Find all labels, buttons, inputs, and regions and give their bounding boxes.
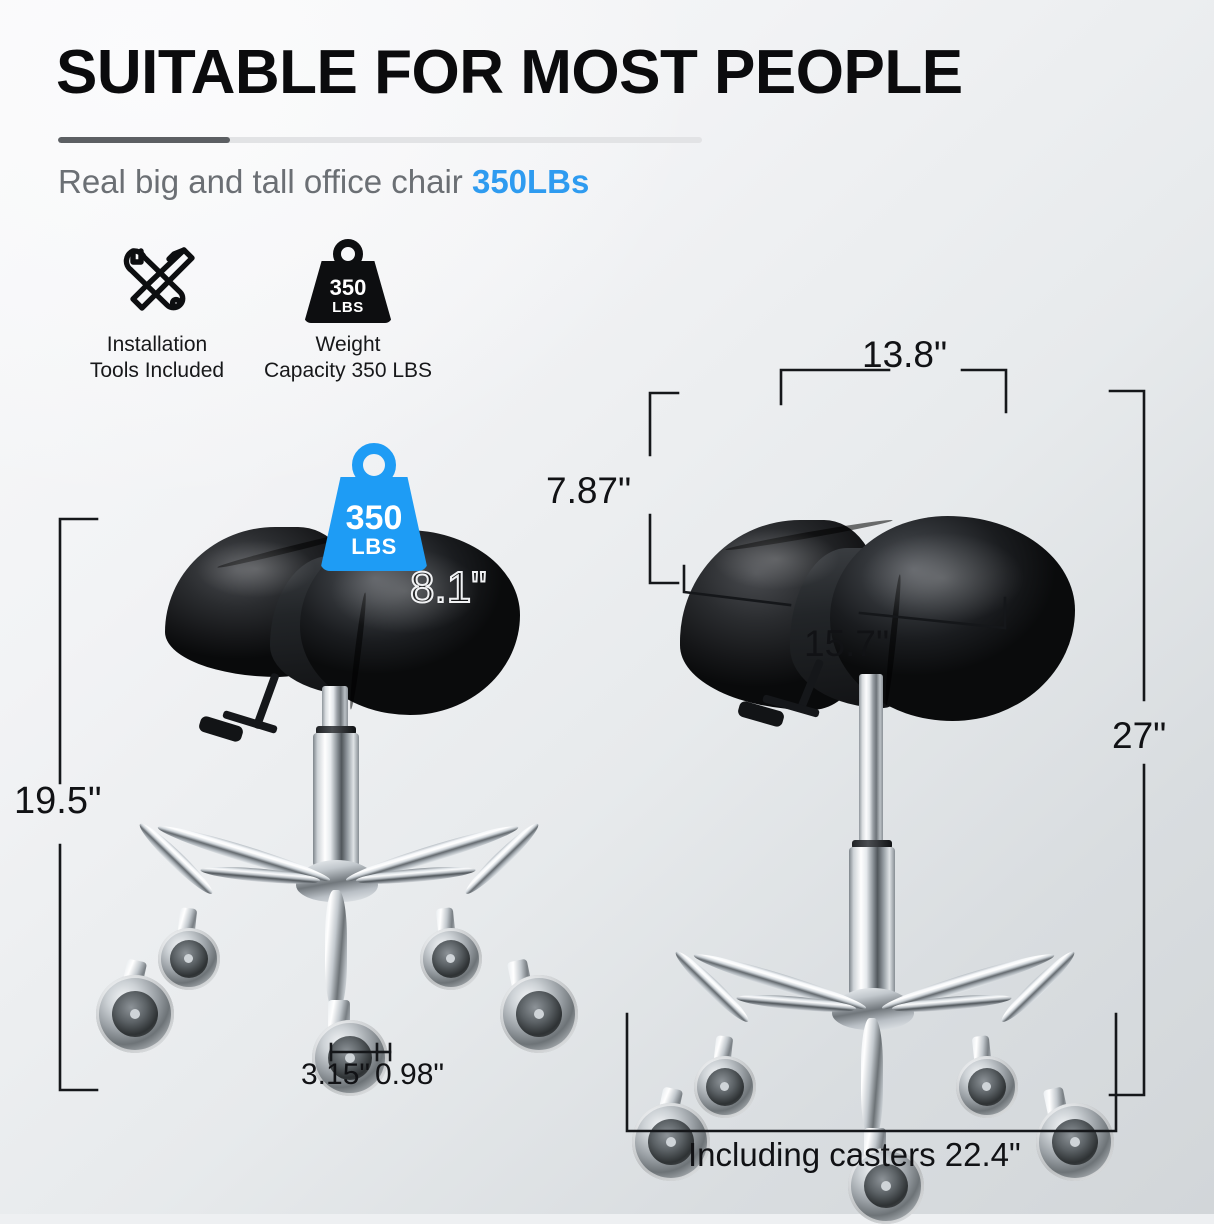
- dimension-label-height-right: 27": [1112, 715, 1166, 757]
- feature-label: Weight Capacity 350 LBS: [248, 332, 448, 383]
- saddle-highlight: [860, 532, 1025, 624]
- feature-weight-capacity: 350 LBS Weight Capacity 350 LBS: [248, 236, 448, 383]
- weight-badge-blue-icon: 350 LBS: [320, 443, 428, 571]
- dimension-label-height-left: 19.5": [14, 780, 101, 823]
- weight-badge-icon: 350 LBS: [248, 236, 448, 326]
- gas-cylinder-rod-right: [859, 674, 883, 844]
- page-title: SUITABLE FOR MOST PEOPLE: [56, 40, 1156, 105]
- gas-cylinder-sleeve-right: [849, 847, 895, 995]
- gas-cylinder-sleeve-left: [313, 733, 359, 867]
- badge-weight-unit: LBS: [304, 300, 392, 315]
- subtitle-text: Real big and tall office chair: [58, 163, 472, 200]
- badge-weight-value: 350: [304, 277, 392, 299]
- dimension-label-seat-bottom-width: 15.7": [804, 623, 889, 665]
- tools-icon: [68, 236, 246, 326]
- title-divider-fill: [58, 137, 230, 143]
- subtitle-highlight: 350LBs: [472, 163, 589, 200]
- feature-label: Installation Tools Included: [68, 332, 246, 383]
- dimension-label-seat-depth: 7.87": [546, 470, 631, 512]
- blue-badge-unit: LBS: [320, 536, 428, 558]
- dimension-label-caster-diameter: 3.15": [301, 1058, 370, 1092]
- dimension-caption-including-casters: Including casters 22.4": [688, 1136, 1021, 1174]
- dimension-label-seat-top-width: 13.8": [862, 334, 947, 376]
- blue-badge-weight: 350: [320, 501, 428, 535]
- feature-installation-tools: Installation Tools Included: [68, 236, 246, 383]
- infographic-canvas: SUITABLE FOR MOST PEOPLE Real big and ta…: [0, 0, 1214, 1214]
- page-subtitle: Real big and tall office chair 350LBs: [58, 163, 589, 201]
- title-divider: [58, 137, 702, 143]
- dimension-label-caster-width: 0.98": [375, 1058, 444, 1092]
- base-leg-front: [325, 890, 347, 1010]
- base-leg-front: [861, 1018, 883, 1138]
- dimension-label-seat-width-left: 8.1": [410, 563, 487, 613]
- gas-cylinder-rod-left: [322, 686, 348, 730]
- saddle-highlight-2: [712, 528, 840, 590]
- saddle-highlight-2: [196, 540, 316, 598]
